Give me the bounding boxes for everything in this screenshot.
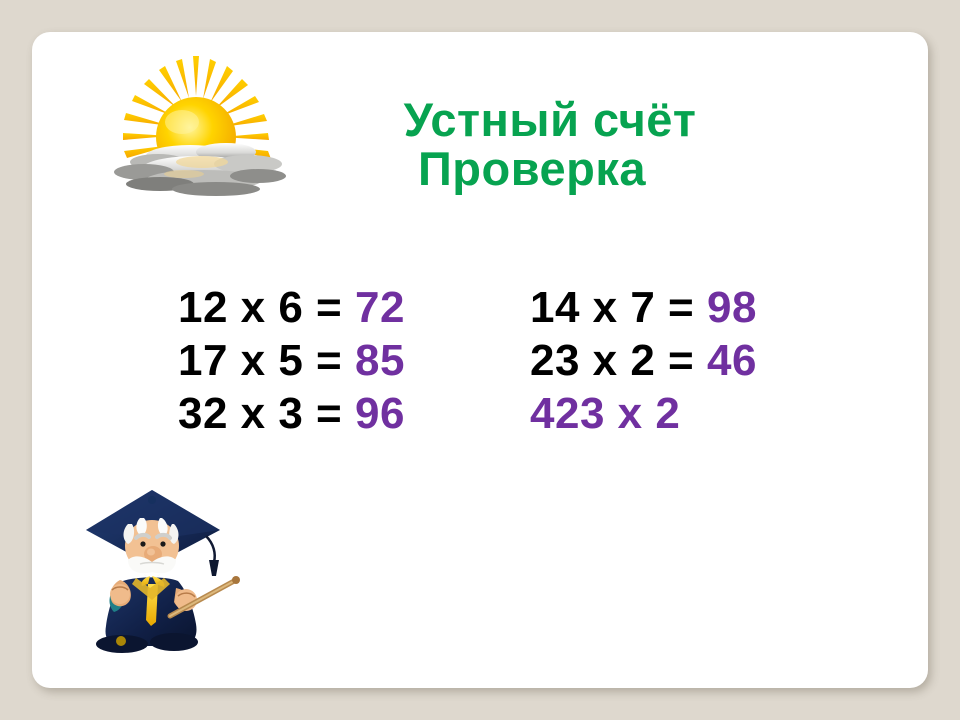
equation-expression: 17 x 5 = — [178, 336, 355, 385]
equation-left-2: 17 x 5 = 85 — [178, 336, 530, 386]
equation-right-1: 14 x 7 = 98 — [530, 283, 860, 333]
equation-answer: 85 — [355, 336, 405, 385]
title-line-2: Проверка — [300, 145, 800, 194]
equations-grid: 12 x 6 = 72 14 x 7 = 98 17 x 5 = 85 23 x… — [178, 283, 860, 442]
equation-row: 12 x 6 = 72 14 x 7 = 98 — [178, 283, 860, 336]
equation-answer: 46 — [707, 336, 757, 385]
equation-expression: 32 x 3 = — [178, 389, 355, 438]
page-title: Устный счёт Проверка — [300, 96, 800, 194]
sun-behind-clouds-icon — [98, 52, 298, 202]
equation-right-3: 423 x 2 — [530, 389, 860, 439]
equation-expression: 12 x 6 = — [178, 283, 355, 332]
equation-answer: 96 — [355, 389, 405, 438]
slide-root: Устный счёт Проверка 12 x 6 = 72 14 x 7 … — [0, 0, 960, 720]
equation-answer: 72 — [355, 283, 405, 332]
title-line-1: Устный счёт — [300, 96, 800, 145]
professor-with-pointer-icon — [78, 484, 243, 656]
equation-expression: 23 x 2 = — [530, 336, 707, 385]
equation-expression: 14 x 7 = — [530, 283, 707, 332]
equation-row: 17 x 5 = 85 23 x 2 = 46 — [178, 336, 860, 389]
equation-answer: 98 — [707, 283, 757, 332]
equation-left-1: 12 x 6 = 72 — [178, 283, 530, 333]
equation-expression: 423 x 2 — [530, 389, 680, 438]
equation-right-2: 23 x 2 = 46 — [530, 336, 860, 386]
equation-left-3: 32 x 3 = 96 — [178, 389, 530, 439]
equation-row: 32 x 3 = 96 423 x 2 — [178, 389, 860, 442]
